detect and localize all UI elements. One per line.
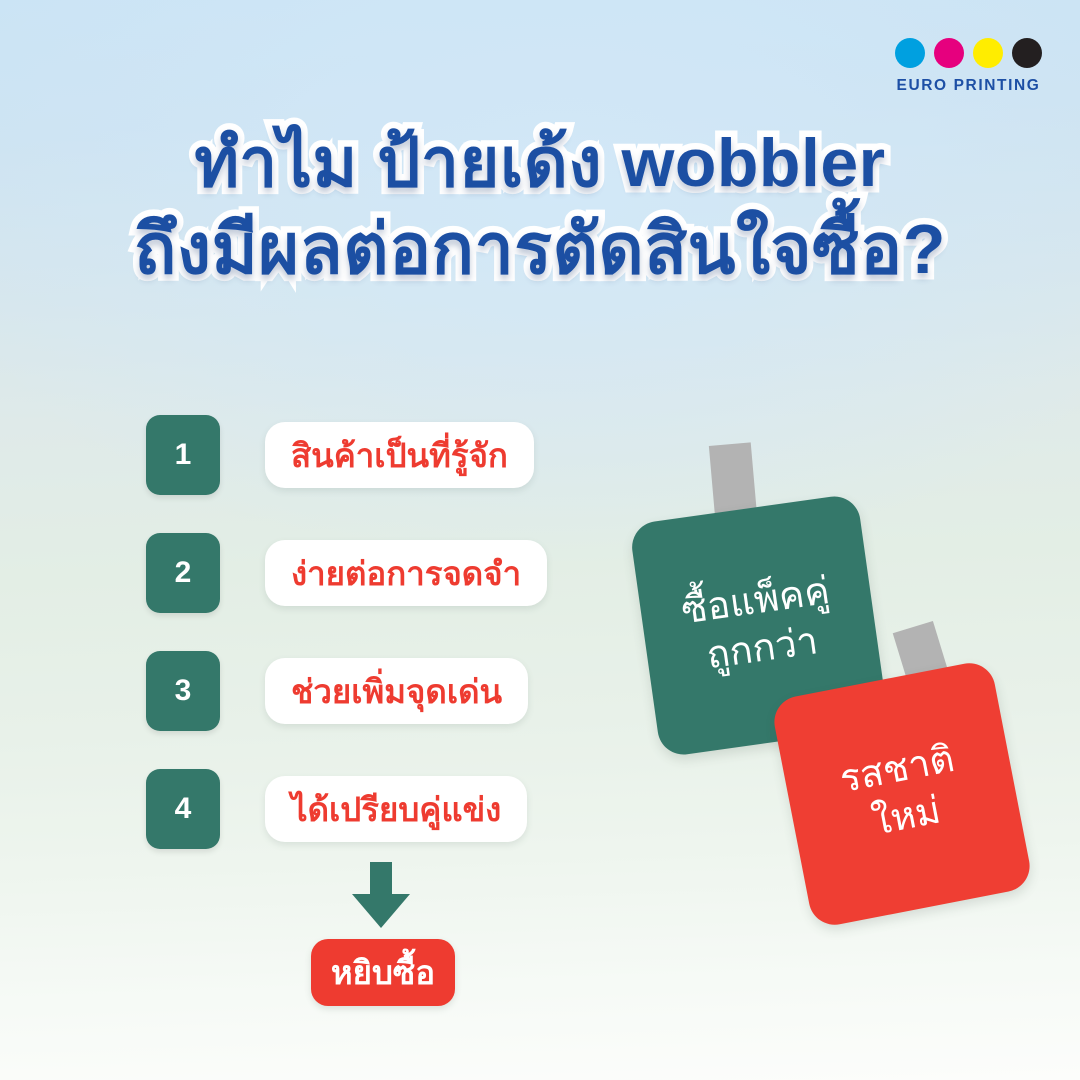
list-item: 1 สินค้าเป็นที่รู้จัก (146, 415, 547, 495)
list-item-label: ง่ายต่อการจดจำ (265, 540, 547, 606)
list-item-label: ช่วยเพิ่มจุดเด่น (265, 658, 528, 724)
list-number-badge: 2 (146, 533, 220, 613)
page-title: ทำไม ป้ายเด้ง wobbler ถึงมีผลต่อการตัดสิ… (0, 128, 1080, 286)
list-item: 2 ง่ายต่อการจดจำ (146, 533, 547, 613)
list-item: 4 ได้เปรียบคู่แข่ง (146, 769, 547, 849)
title-line-1: ทำไม ป้ายเด้ง wobbler (0, 128, 1080, 199)
black-dot (1012, 38, 1042, 68)
list-item-label: ได้เปรียบคู่แข่ง (265, 776, 527, 842)
wobbler-card: รสชาติ ใหม่ (770, 659, 1034, 929)
poster-canvas: EURO PRINTING ทำไม ป้ายเด้ง wobbler ถึงม… (0, 0, 1080, 1080)
benefit-list: 1 สินค้าเป็นที่รู้จัก 2 ง่ายต่อการจดจำ 3… (146, 415, 547, 887)
list-item: 3 ช่วยเพิ่มจุดเด่น (146, 651, 547, 731)
brand-name: EURO PRINTING (895, 77, 1042, 95)
magenta-dot (934, 38, 964, 68)
cta-button[interactable]: หยิบซื้อ (311, 939, 455, 1006)
yellow-dot (973, 38, 1003, 68)
list-item-label: สินค้าเป็นที่รู้จัก (265, 422, 534, 488)
list-number-badge: 4 (146, 769, 220, 849)
list-number-badge: 1 (146, 415, 220, 495)
list-number-badge: 3 (146, 651, 220, 731)
cyan-dot (895, 38, 925, 68)
brand-logo: EURO PRINTING (895, 38, 1042, 95)
cmyk-dots (895, 38, 1042, 68)
down-arrow-icon (348, 862, 414, 935)
title-line-2: ถึงมีผลต่อการตัดสินใจซื้อ? (0, 213, 1080, 286)
